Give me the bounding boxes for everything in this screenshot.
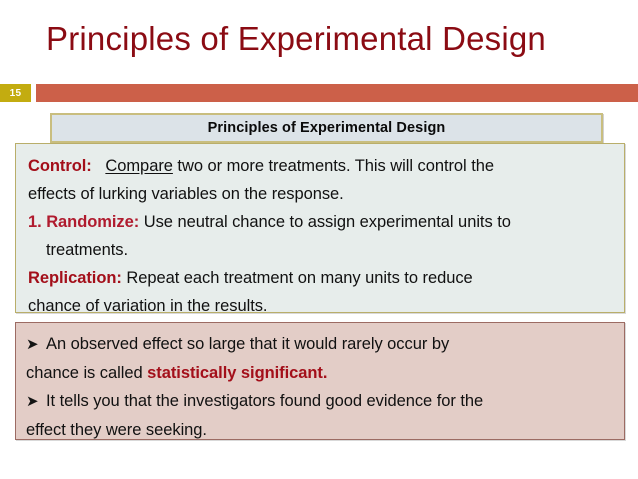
randomize-rest-text: Use neutral chance to assign experimenta… — [139, 213, 511, 231]
note-line-1: ➤An observed effect so large that it wou… — [26, 330, 612, 359]
note-line-3-text: It tells you that the investigators foun… — [46, 392, 483, 410]
control-continuation-text: effects of lurking variables on the resp… — [28, 185, 344, 203]
content-line-control-cont: effects of lurking variables on the resp… — [28, 180, 612, 208]
header-accent-bar — [36, 84, 638, 102]
compare-underlined-word: Compare — [105, 157, 173, 175]
control-keyword: Control: — [28, 157, 92, 175]
content-line-replication-cont: chance of variation in the results. — [28, 292, 612, 320]
randomize-continuation-text: treatments. — [46, 241, 128, 259]
section-heading-box: Principles of Experimental Design — [50, 113, 603, 143]
randomize-keyword: 1. Randomize: — [28, 213, 139, 231]
statistically-significant-emphasis: statistically significant. — [147, 364, 327, 382]
replication-keyword: Replication: — [28, 269, 122, 287]
note-line-4: effect they were seeking. — [26, 416, 612, 444]
replication-rest-text: Repeat each treatment on many units to r… — [122, 269, 473, 287]
slide-number-badge: 15 — [0, 84, 31, 102]
content-line-replication: Replication: Repeat each treatment on ma… — [28, 264, 612, 292]
replication-continuation-text: chance of variation in the results. — [28, 297, 267, 315]
content-line-control: Control: Compare two or more treatments.… — [28, 152, 612, 180]
spacer — [96, 157, 105, 175]
note-line-4-text: effect they were seeking. — [26, 421, 207, 439]
significance-note-box: ➤An observed effect so large that it wou… — [15, 322, 625, 440]
note-line-2: chance is called statistically significa… — [26, 359, 612, 387]
note-line-1-text: An observed effect so large that it woul… — [46, 335, 449, 353]
content-line-randomize: 1. Randomize: Use neutral chance to assi… — [28, 208, 612, 236]
section-heading-label: Principles of Experimental Design — [208, 120, 446, 136]
note-line-3: ➤It tells you that the investigators fou… — [26, 387, 612, 416]
arrow-bullet-icon: ➤ — [26, 331, 46, 359]
arrow-bullet-icon: ➤ — [26, 388, 46, 416]
principles-content-box: Control: Compare two or more treatments.… — [15, 143, 625, 313]
note-line-2-prefix: chance is called — [26, 364, 147, 382]
page-title: Principles of Experimental Design — [46, 20, 606, 58]
control-rest-text: two or more treatments. This will contro… — [173, 157, 494, 175]
content-line-randomize-cont: treatments. — [28, 236, 612, 264]
